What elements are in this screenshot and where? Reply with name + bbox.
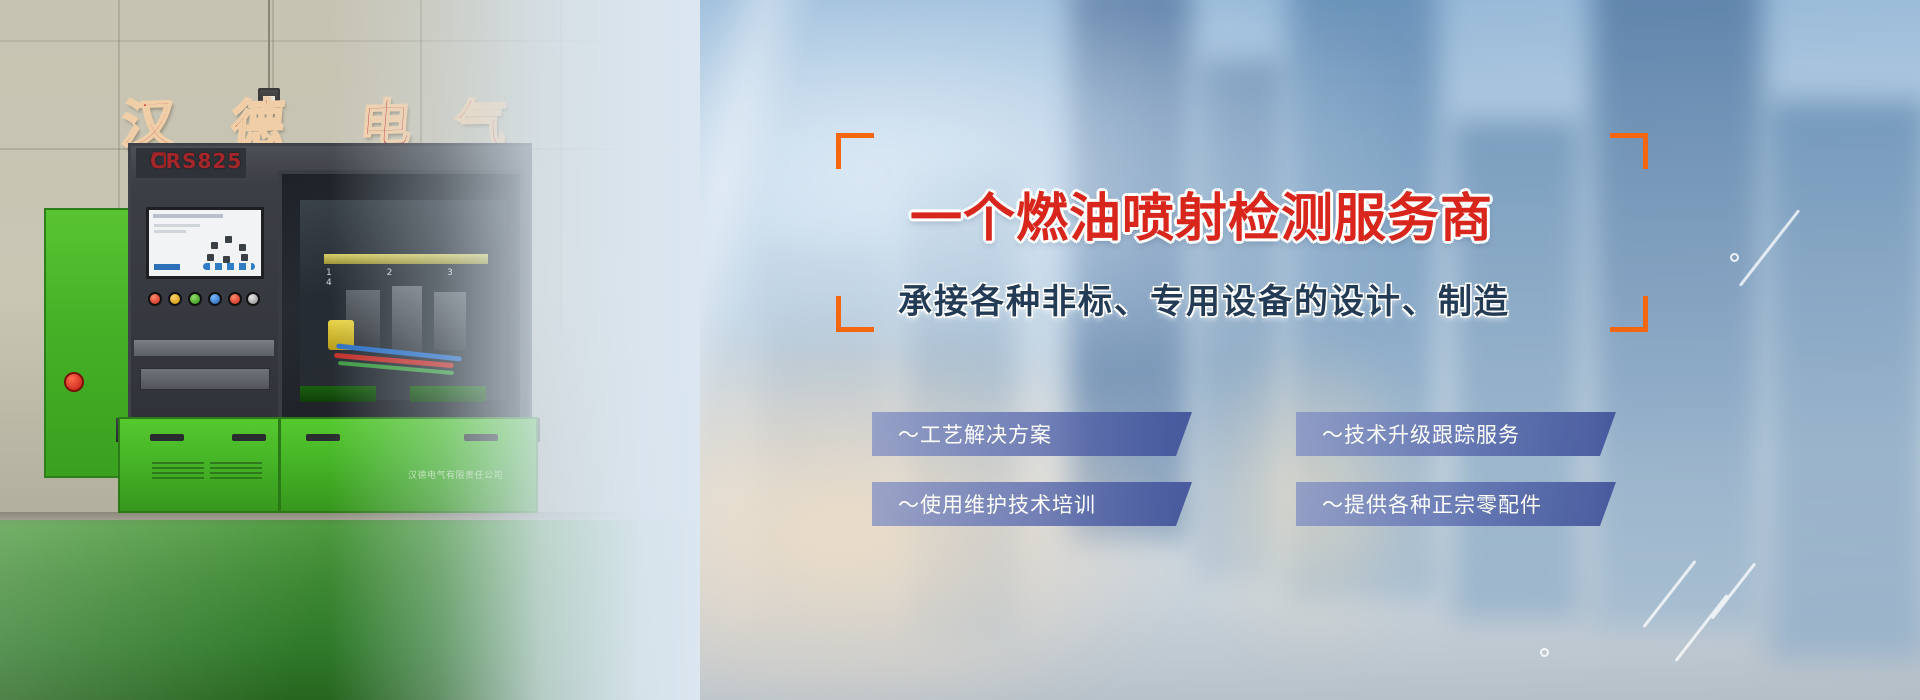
corner-bracket-top-right-icon [1610,133,1648,169]
decor-ring-icon [1540,648,1549,657]
corner-bracket-bottom-right-icon [1610,296,1648,332]
product-photo: 汉 德 电 气 CRS825 1 2 3 4 [0,0,700,700]
corner-bracket-bottom-left-icon [836,296,874,332]
hero-banner: 汉 德 电 气 CRS825 1 2 3 4 [0,0,1920,700]
banner-subheadline: 承接各种非标、专用设备的设计、制造 [898,274,1510,323]
feature-tag-process-solution[interactable]: ～工艺解决方案 [872,412,1192,456]
photo-gradient-fade [0,0,700,700]
corner-bracket-top-left-icon [836,133,874,169]
background-building-6 [1768,100,1920,660]
banner-headline: 一个燃油喷射检测服务商 [910,176,1493,251]
decor-ring-icon [1730,253,1739,262]
feature-tag-training[interactable]: ～使用维护技术培训 [872,482,1192,526]
feature-tag-tech-upgrade-service[interactable]: ～技术升级跟踪服务 [1296,412,1616,456]
feature-tag-genuine-parts[interactable]: ～提供各种正宗零配件 [1296,482,1616,526]
